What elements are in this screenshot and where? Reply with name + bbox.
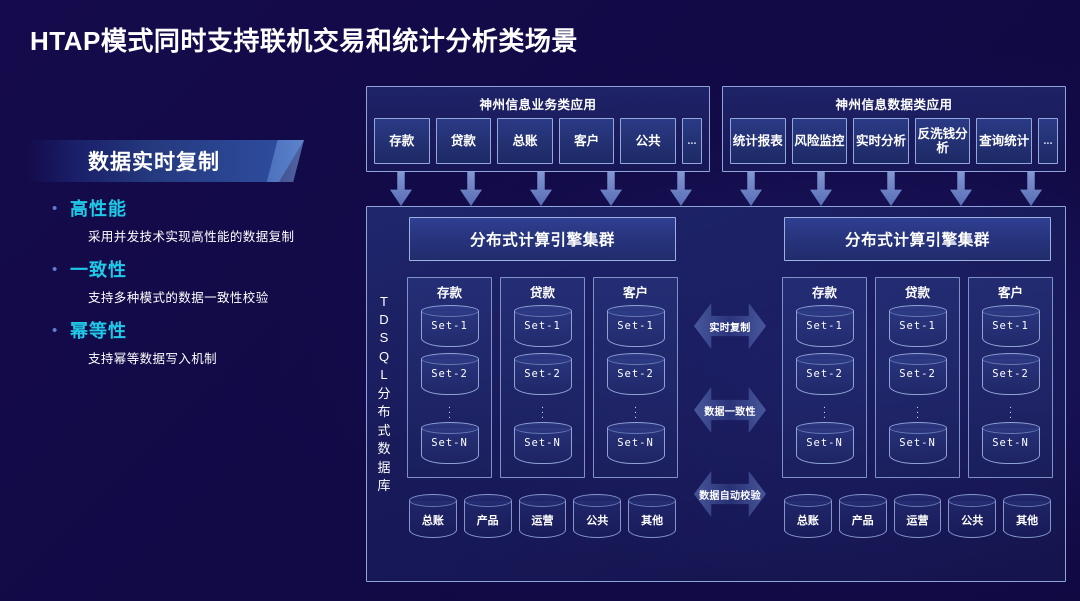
slide-root: HTAP模式同时支持联机交易和统计分析类场景 数据实时复制 • 高性能 采用并发… <box>0 0 1080 601</box>
page-title: HTAP模式同时支持联机交易和统计分析类场景 <box>30 21 578 58</box>
set-cylinder: Set-2 <box>982 353 1040 395</box>
tdsql-label-char: D <box>379 311 388 329</box>
set-label: Set-2 <box>514 369 572 380</box>
bottom-cylinder: 公共 <box>573 494 621 538</box>
set-label: Set-1 <box>982 321 1040 332</box>
down-arrow-icon <box>390 172 412 206</box>
set-cylinder: Set-N <box>514 422 572 464</box>
set-column-title: 客户 <box>974 281 1047 305</box>
set-label: Set-2 <box>607 369 665 380</box>
set-columns: 存款 Set-1 Set-2 ... <box>778 277 1057 478</box>
set-cylinder: Set-1 <box>421 305 479 347</box>
compute-engine-cluster: 分布式计算引擎集群 <box>784 217 1051 261</box>
tdsql-label-char: 式 <box>377 422 390 440</box>
tdsql-label-char: Q <box>379 348 389 366</box>
set-column: 存款 Set-1 Set-2 ... <box>407 277 492 478</box>
app-cell: 实时分析 <box>853 118 909 164</box>
bullet-heading: 高性能 <box>70 196 127 222</box>
tdsql-vertical-label: T D S Q L 分 布 式 数 据 库 <box>367 207 401 581</box>
tdsql-label-char: T <box>380 293 388 311</box>
bidirectional-arrow-icon: 数据一致性 <box>694 387 766 433</box>
tdsql-label-char: S <box>380 329 389 347</box>
down-arrow-icon <box>670 172 692 206</box>
clusters-area: 分布式计算引擎集群 存款 Set-1 <box>401 207 1065 581</box>
down-arrow-icon <box>1020 172 1042 206</box>
bullet-description: 支持多种模式的数据一致性校验 <box>88 287 360 306</box>
set-column-title: 存款 <box>788 281 861 305</box>
set-label: Set-1 <box>889 321 947 332</box>
set-column-title: 贷款 <box>506 281 579 305</box>
set-cylinder: Set-1 <box>796 305 854 347</box>
bottom-cylinder: 产品 <box>839 494 887 538</box>
bullet-dot-icon: • <box>52 257 70 283</box>
app-cell: 风险监控 <box>792 118 848 164</box>
set-column-title: 客户 <box>599 281 672 305</box>
set-label: Set-N <box>889 438 947 449</box>
set-label: Set-1 <box>796 321 854 332</box>
set-cylinder: Set-N <box>889 422 947 464</box>
bottom-cylinder: 运营 <box>519 494 567 538</box>
down-arrow-icon <box>880 172 902 206</box>
bullet-item: • 一致性 支持多种模式的数据一致性校验 <box>52 257 360 306</box>
set-column-title: 贷款 <box>881 281 954 305</box>
bottom-cylinder-label: 产品 <box>839 512 887 528</box>
down-arrow-icon <box>460 172 482 206</box>
bottom-cylinders: 总账 产品 运营 <box>403 478 682 538</box>
down-arrow-icon <box>810 172 832 206</box>
bottom-cylinder-label: 总账 <box>784 512 832 528</box>
vertical-ellipsis: ... <box>788 401 861 422</box>
set-label: Set-N <box>514 438 572 449</box>
down-arrow-icon <box>950 172 972 206</box>
bullet-item: • 高性能 采用并发技术实现高性能的数据复制 <box>52 196 360 245</box>
left-panel: 数据实时复制 • 高性能 采用并发技术实现高性能的数据复制 • 一致性 支持多种… <box>0 140 360 379</box>
section-banner: 数据实时复制 <box>26 140 304 182</box>
bullet-dot-icon: • <box>52 318 70 344</box>
vertical-ellipsis: ... <box>506 401 579 422</box>
application-group-data: 神州信息数据类应用 统计报表 风险监控 实时分析 反洗钱分析 查询统计 ... <box>722 86 1066 172</box>
bottom-cylinder-label: 公共 <box>573 512 621 528</box>
set-column-title: 存款 <box>413 281 486 305</box>
set-label: Set-N <box>982 438 1040 449</box>
bottom-cylinder: 总账 <box>409 494 457 538</box>
app-cell: 查询统计 <box>976 118 1032 164</box>
bullet-description: 采用并发技术实现高性能的数据复制 <box>88 226 360 245</box>
vertical-ellipsis: ... <box>413 401 486 422</box>
bottom-cylinder: 其他 <box>1003 494 1051 538</box>
tdsql-label-char: 数 <box>377 440 390 458</box>
set-cylinder: Set-1 <box>607 305 665 347</box>
set-cylinder: Set-1 <box>514 305 572 347</box>
set-label: Set-N <box>796 438 854 449</box>
bottom-cylinders: 总账 产品 运营 <box>778 478 1057 538</box>
tdsql-container: T D S Q L 分 布 式 数 据 库 分布式计算引擎集群 存款 <box>366 206 1066 582</box>
set-column: 贷款 Set-1 Set-2 ... <box>500 277 585 478</box>
set-label: Set-N <box>607 438 665 449</box>
bullet-description: 支持幂等数据写入机制 <box>88 348 360 367</box>
set-cylinder: Set-N <box>607 422 665 464</box>
set-cylinder: Set-N <box>982 422 1040 464</box>
app-cell: 客户 <box>559 118 615 164</box>
app-cell: 总账 <box>497 118 553 164</box>
set-label: Set-1 <box>514 321 572 332</box>
arrow-label: 数据自动校验 <box>699 487 761 502</box>
tdsql-label-char: 布 <box>377 403 390 421</box>
application-cells: 存款 贷款 总账 客户 公共 ... <box>374 118 702 164</box>
set-cylinder: Set-2 <box>796 353 854 395</box>
bullet-heading: 幂等性 <box>70 318 127 344</box>
app-cell-ellipsis: ... <box>682 118 702 164</box>
replication-arrows: 实时复制 数据一致性 数据自动校验 <box>682 217 778 573</box>
bidirectional-arrow-icon: 实时复制 <box>694 303 766 349</box>
down-arrow-icon <box>600 172 622 206</box>
bottom-cylinder-label: 其他 <box>1003 512 1051 528</box>
application-group-title: 神州信息业务类应用 <box>374 92 702 118</box>
app-cell: 公共 <box>620 118 676 164</box>
bottom-cylinder-label: 总账 <box>409 512 457 528</box>
vertical-ellipsis: ... <box>881 401 954 422</box>
app-cell-ellipsis: ... <box>1038 118 1058 164</box>
set-cylinder: Set-2 <box>421 353 479 395</box>
app-cell: 统计报表 <box>730 118 786 164</box>
set-cylinder: Set-N <box>421 422 479 464</box>
set-cylinder: Set-1 <box>982 305 1040 347</box>
down-arrow-icon <box>740 172 762 206</box>
set-label: Set-N <box>421 438 479 449</box>
down-arrow-icon <box>530 172 552 206</box>
set-column: 存款 Set-1 Set-2 ... <box>782 277 867 478</box>
app-cell: 反洗钱分析 <box>915 118 971 164</box>
vertical-ellipsis: ... <box>599 401 672 422</box>
arrow-band <box>366 172 1066 206</box>
application-group-business: 神州信息业务类应用 存款 贷款 总账 客户 公共 ... <box>366 86 710 172</box>
set-cylinder: Set-2 <box>889 353 947 395</box>
bottom-cylinder: 公共 <box>948 494 996 538</box>
bullet-dot-icon: • <box>52 196 70 222</box>
set-columns: 存款 Set-1 Set-2 ... <box>403 277 682 478</box>
architecture-diagram: 神州信息业务类应用 存款 贷款 总账 客户 公共 ... 神州信息数据类应用 统… <box>366 86 1066 582</box>
tdsql-label-char: 库 <box>377 477 390 495</box>
arrow-label: 实时复制 <box>709 319 750 334</box>
bottom-cylinder-label: 其他 <box>628 512 676 528</box>
bottom-cylinder-label: 产品 <box>464 512 512 528</box>
app-cell: 贷款 <box>436 118 492 164</box>
bullet-list: • 高性能 采用并发技术实现高性能的数据复制 • 一致性 支持多种模式的数据一致… <box>0 196 360 367</box>
application-groups-row: 神州信息业务类应用 存款 贷款 总账 客户 公共 ... 神州信息数据类应用 统… <box>366 86 1066 172</box>
bottom-cylinder-label: 公共 <box>948 512 996 528</box>
cluster-left: 分布式计算引擎集群 存款 Set-1 <box>403 217 682 573</box>
app-cell: 存款 <box>374 118 430 164</box>
cluster-right: 分布式计算引擎集群 存款 Set-1 <box>778 217 1057 573</box>
set-cylinder: Set-N <box>796 422 854 464</box>
bottom-cylinder-label: 运营 <box>519 512 567 528</box>
bottom-cylinder: 产品 <box>464 494 512 538</box>
set-cylinder: Set-2 <box>514 353 572 395</box>
set-column: 客户 Set-1 Set-2 ... <box>593 277 678 478</box>
arrow-label: 数据一致性 <box>704 403 756 418</box>
bottom-cylinder-label: 运营 <box>894 512 942 528</box>
set-column: 客户 Set-1 Set-2 ... <box>968 277 1053 478</box>
set-label: Set-2 <box>982 369 1040 380</box>
bullet-heading: 一致性 <box>70 257 127 283</box>
set-cylinder: Set-2 <box>607 353 665 395</box>
application-group-title: 神州信息数据类应用 <box>730 92 1058 118</box>
set-column: 贷款 Set-1 Set-2 ... <box>875 277 960 478</box>
set-cylinder: Set-1 <box>889 305 947 347</box>
set-label: Set-2 <box>796 369 854 380</box>
set-label: Set-2 <box>889 369 947 380</box>
set-label: Set-1 <box>421 321 479 332</box>
bullet-item: • 幂等性 支持幂等数据写入机制 <box>52 318 360 367</box>
application-cells: 统计报表 风险监控 实时分析 反洗钱分析 查询统计 ... <box>730 118 1058 164</box>
tdsql-label-char: L <box>380 366 387 384</box>
vertical-ellipsis: ... <box>974 401 1047 422</box>
set-label: Set-1 <box>607 321 665 332</box>
bottom-cylinder: 其他 <box>628 494 676 538</box>
bottom-cylinder: 总账 <box>784 494 832 538</box>
bidirectional-arrow-icon: 数据自动校验 <box>694 471 766 517</box>
set-label: Set-2 <box>421 369 479 380</box>
compute-engine-cluster: 分布式计算引擎集群 <box>409 217 676 261</box>
banner-label: 数据实时复制 <box>26 140 304 182</box>
bottom-cylinder: 运营 <box>894 494 942 538</box>
tdsql-label-char: 分 <box>377 385 390 403</box>
tdsql-label-char: 据 <box>377 459 390 477</box>
